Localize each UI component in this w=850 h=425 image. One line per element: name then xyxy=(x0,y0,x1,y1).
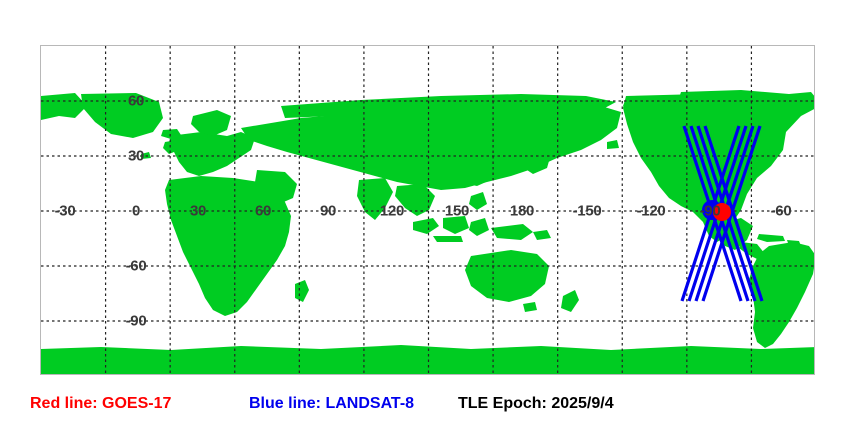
legend-red-line-goes17: Red line: GOES-17 xyxy=(30,394,171,414)
world-map[interactable]: 90 60 30 -60 -90 -30 0 30 60 90 120 150 … xyxy=(40,45,815,375)
goes17-position-marker[interactable] xyxy=(713,203,731,221)
map-legend: Red line: GOES-17 Blue line: LANDSAT-8 T… xyxy=(0,392,850,420)
land-java xyxy=(433,236,463,242)
satellite-ground-track-map: 90 60 30 -60 -90 -30 0 30 60 90 120 150 … xyxy=(0,0,850,425)
legend-blue-line-landsat8: Blue line: LANDSAT-8 xyxy=(249,394,414,414)
legend-tle-epoch: TLE Epoch: 2025/9/4 xyxy=(458,394,614,414)
map-canvas xyxy=(41,46,815,375)
